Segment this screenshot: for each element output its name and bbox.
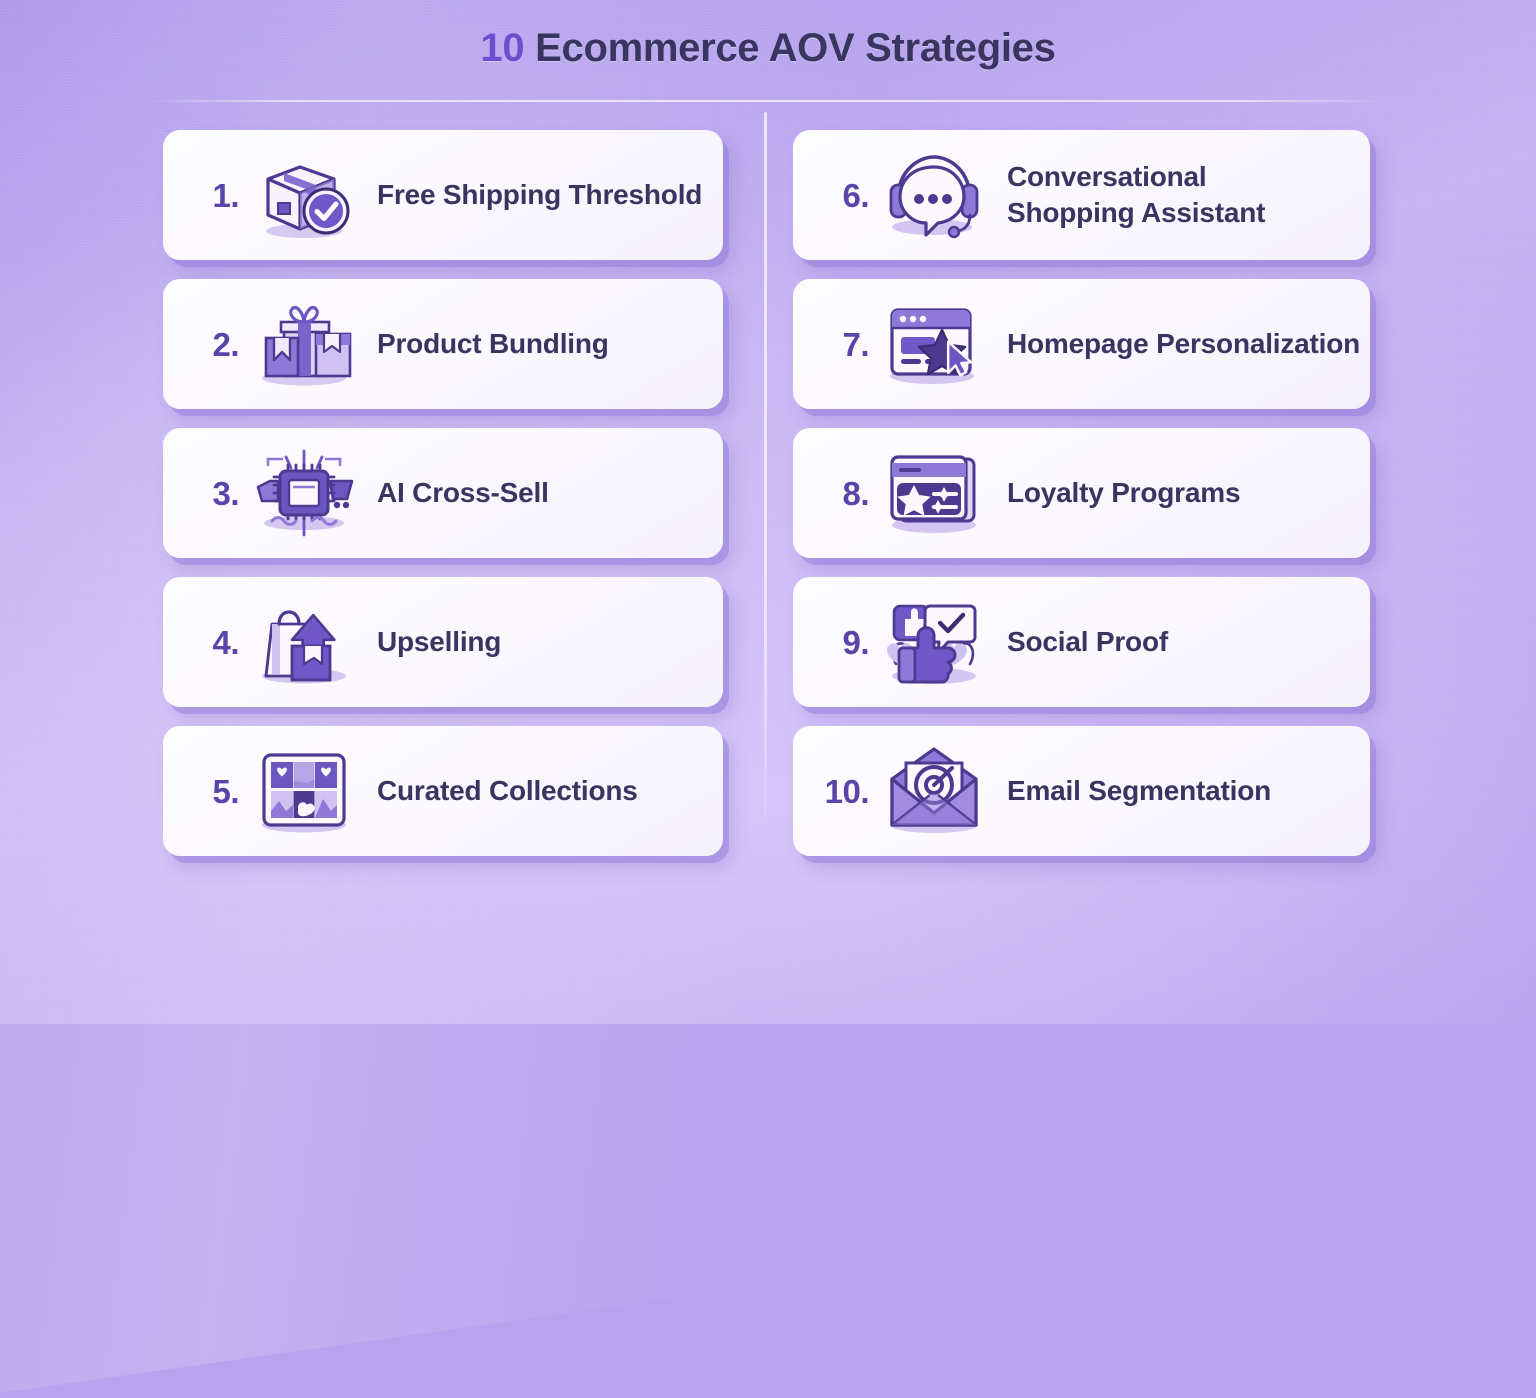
- card-number-5: 5.: [185, 775, 243, 808]
- card-label-7: Homepage Personalization: [1007, 326, 1360, 362]
- title-text: Ecommerce AOV Strategies: [535, 26, 1055, 70]
- strategy-card-2[interactable]: 2. Product Bundling: [163, 279, 723, 409]
- strategy-card-6[interactable]: 6. Conversational Shopping Assistan: [793, 130, 1370, 260]
- card-number-8: 8.: [815, 477, 873, 510]
- shopping-bag-arrow-icon: [245, 590, 363, 694]
- card-label-9: Social Proof: [1007, 624, 1168, 660]
- card-number-1: 1.: [185, 179, 243, 212]
- card-label-8-line1: Loyalty Programs: [1007, 477, 1240, 508]
- card-label-1: Free Shipping Threshold: [377, 177, 702, 213]
- card-label-8: Loyalty Programs: [1007, 475, 1240, 511]
- card-label-7-line1: Homepage Personalization: [1007, 328, 1360, 359]
- card-label-3: AI Cross-Sell: [377, 475, 549, 511]
- strategy-card-7[interactable]: 7. Homepage Personalization: [793, 279, 1370, 409]
- thumbs-up-check-icon: [875, 590, 993, 694]
- shipping-box-check-icon: [245, 143, 363, 247]
- card-label-2: Product Bundling: [377, 326, 609, 362]
- strategy-card-10[interactable]: 10. Email Segmentation: [793, 726, 1370, 856]
- strategy-card-4[interactable]: 4. Upselling: [163, 577, 723, 707]
- horizontal-divider: [148, 100, 1388, 102]
- right-column: 6. Conversational Shopping Assistan: [793, 130, 1370, 856]
- headset-chat-icon: [875, 143, 993, 247]
- browser-star-cursor-icon: [875, 292, 993, 396]
- gift-bundle-icon: [245, 292, 363, 396]
- left-column: 1. Free Shipping Threshold 2.: [163, 130, 723, 856]
- strategy-card-5[interactable]: 5. Curat: [163, 726, 723, 856]
- card-label-6: Conversational Shopping Assistant: [1007, 159, 1265, 232]
- card-number-4: 4.: [185, 626, 243, 659]
- card-number-6: 6.: [815, 179, 873, 212]
- card-label-10-line1: Email Segmentation: [1007, 775, 1271, 806]
- card-number-3: 3.: [185, 477, 243, 510]
- card-label-10: Email Segmentation: [1007, 773, 1271, 809]
- card-number-7: 7.: [815, 328, 873, 361]
- card-label-9-line1: Social Proof: [1007, 626, 1168, 657]
- envelope-target-icon: [875, 739, 993, 843]
- vertical-divider: [764, 112, 767, 835]
- card-label-5: Curated Collections: [377, 773, 638, 809]
- loyalty-card-icon: [875, 441, 993, 545]
- card-number-10: 10.: [807, 775, 873, 808]
- card-number-9: 9.: [815, 626, 873, 659]
- title-number: 10: [480, 26, 524, 70]
- card-label-6-line2: Shopping Assistant: [1007, 195, 1265, 231]
- card-number-2: 2.: [185, 328, 243, 361]
- strategy-card-1[interactable]: 1. Free Shipping Threshold: [163, 130, 723, 260]
- strategy-card-9[interactable]: 9. Social Proof: [793, 577, 1370, 707]
- collection-grid-icon: [245, 739, 363, 843]
- card-label-6-line1: Conversational: [1007, 161, 1206, 192]
- strategy-card-8[interactable]: 8. Loyalty Programs: [793, 428, 1370, 558]
- ai-chip-cart-icon: [245, 441, 363, 545]
- infographic-page: 10 Ecommerce AOV Strategies 1.: [0, 0, 1536, 1024]
- page-title: 10 Ecommerce AOV Strategies: [0, 26, 1536, 71]
- strategy-card-3[interactable]: 3.: [163, 428, 723, 558]
- card-label-4: Upselling: [377, 624, 501, 660]
